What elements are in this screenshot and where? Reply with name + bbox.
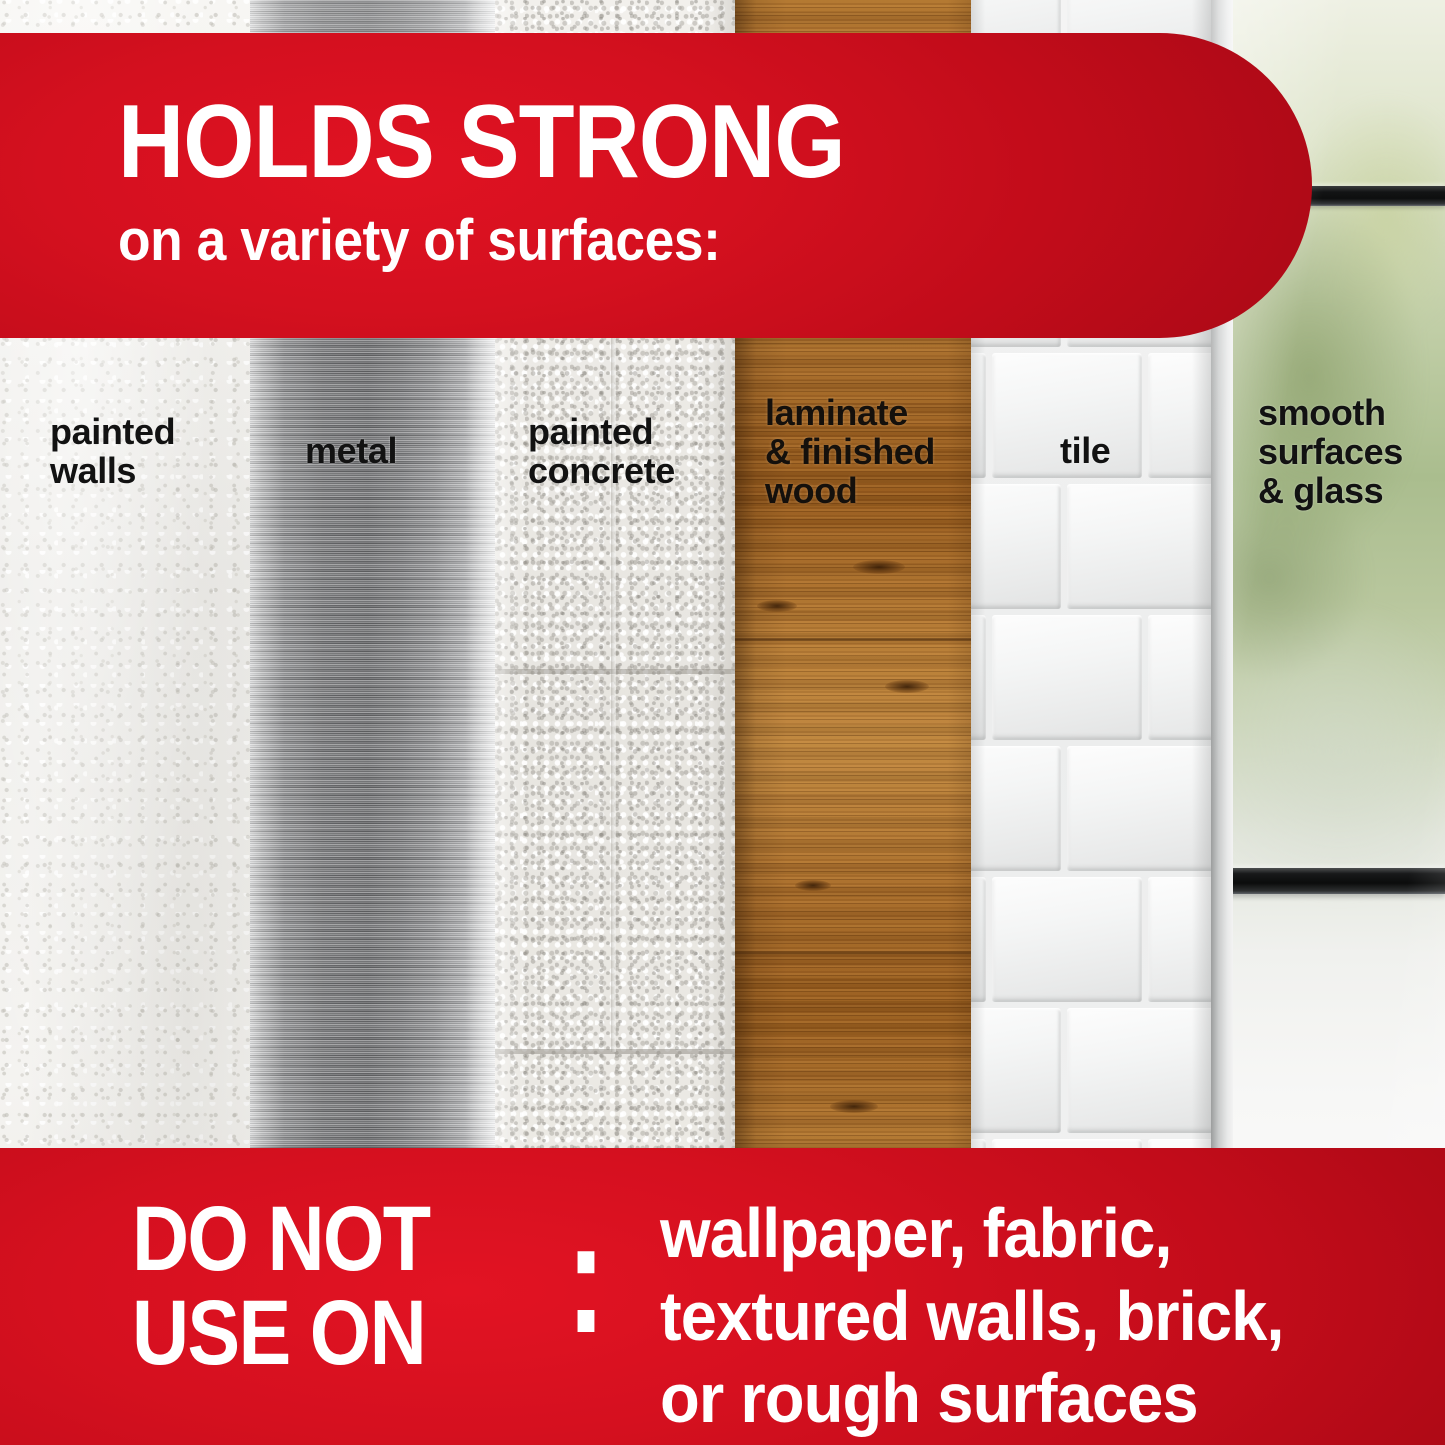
tile-unit [992, 615, 1142, 740]
surface-label-painted-walls: painted walls [50, 413, 175, 491]
tile-unit [1148, 615, 1211, 740]
surface-label-smooth-glass: smooth surfaces & glass [1258, 394, 1403, 511]
tile-row [971, 615, 1196, 740]
wood-knot-icon [830, 1100, 878, 1113]
surface-label-painted-concrete: painted concrete [528, 413, 675, 491]
wood-knot-icon [795, 880, 831, 891]
holds-strong-subhead: on a variety of surfaces: [118, 212, 720, 270]
concrete-vertical-joint-lower [611, 672, 616, 1052]
wood-knot-icon [757, 600, 797, 612]
surface-label-tile: tile [1060, 432, 1110, 471]
tile-unit [1067, 1008, 1211, 1133]
tile-unit [1067, 484, 1211, 609]
do-not-use-label: DO NOT USE ON [132, 1193, 429, 1381]
tile-unit [971, 484, 1061, 609]
surface-label-metal: metal [305, 432, 397, 471]
tile-unit [971, 877, 986, 1002]
tile-row [971, 746, 1211, 871]
tile-row [971, 877, 1196, 1002]
tile-unit [1148, 353, 1211, 478]
tile-unit [971, 353, 986, 478]
tile-row [971, 484, 1211, 609]
wood-knot-icon [853, 560, 905, 574]
holds-strong-headline: HOLDS STRONG [118, 90, 845, 194]
tile-unit [971, 615, 986, 740]
tile-unit [971, 1008, 1061, 1133]
tile-unit [971, 746, 1061, 871]
do-not-use-exclusions: wallpaper, fabric, textured walls, brick… [660, 1192, 1284, 1440]
tile-unit [992, 877, 1142, 1002]
tile-row [971, 1008, 1211, 1133]
wood-knot-icon [885, 680, 929, 693]
tile-unit [1148, 877, 1211, 1002]
do-not-use-colon: : [566, 1197, 606, 1357]
tile-unit [1067, 746, 1211, 871]
product-infographic: painted walls metal painted concrete lam… [0, 0, 1445, 1445]
surface-label-laminate-wood: laminate & finished wood [765, 394, 935, 511]
